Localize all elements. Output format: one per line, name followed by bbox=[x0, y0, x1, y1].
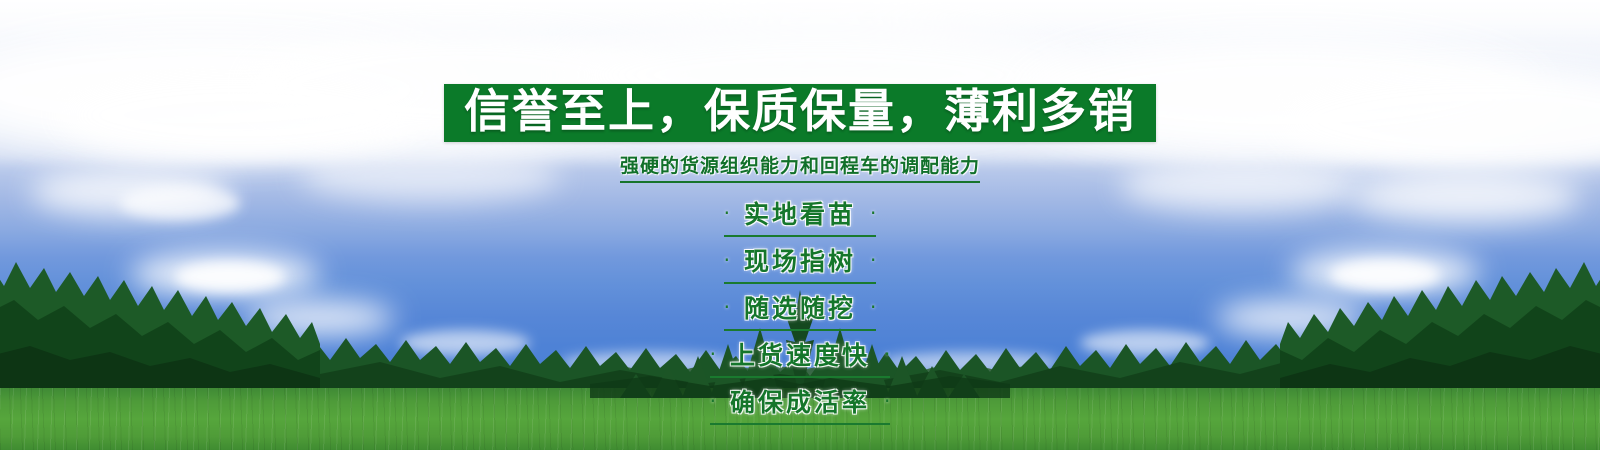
feature-item: · 上货速度快 · bbox=[710, 334, 891, 378]
feature-label: 随选随挖 bbox=[744, 289, 856, 325]
bullet-dot-left-icon: · bbox=[724, 203, 730, 223]
headline-banner-bar: 信誉至上，保质保量，薄利多销 bbox=[444, 84, 1156, 142]
bullet-dot-right-icon: · bbox=[870, 203, 876, 223]
bullet-dot-right-icon: · bbox=[884, 344, 890, 364]
bullet-dot-left-icon: · bbox=[710, 391, 716, 411]
bullet-dot-right-icon: · bbox=[870, 250, 876, 270]
feature-item: · 随选随挖 · bbox=[724, 287, 877, 331]
bullet-dot-left-icon: · bbox=[724, 250, 730, 270]
feature-label: 实地看苗 bbox=[744, 195, 856, 231]
bullet-dot-right-icon: · bbox=[884, 391, 890, 411]
feature-item: · 确保成活率 · bbox=[710, 381, 891, 425]
bullet-dot-right-icon: · bbox=[870, 297, 876, 317]
feature-item: · 现场指树 · bbox=[724, 240, 877, 284]
subtitle-text: 强硬的货源组织能力和回程车的调配能力 bbox=[620, 151, 980, 183]
feature-item: · 实地看苗 · bbox=[724, 193, 877, 237]
feature-label: 现场指树 bbox=[744, 242, 856, 278]
bullet-dot-left-icon: · bbox=[724, 297, 730, 317]
feature-list: · 实地看苗 · · 现场指树 · · 随选随挖 · · 上货速度快 · · 确 bbox=[710, 193, 891, 428]
headline-text: 信誉至上，保质保量，薄利多销 bbox=[464, 88, 1136, 134]
feature-label: 确保成活率 bbox=[730, 383, 870, 419]
promo-banner: 信誉至上，保质保量，薄利多销 强硬的货源组织能力和回程车的调配能力 · 实地看苗… bbox=[0, 0, 1600, 450]
bullet-dot-left-icon: · bbox=[710, 344, 716, 364]
feature-label: 上货速度快 bbox=[730, 336, 870, 372]
